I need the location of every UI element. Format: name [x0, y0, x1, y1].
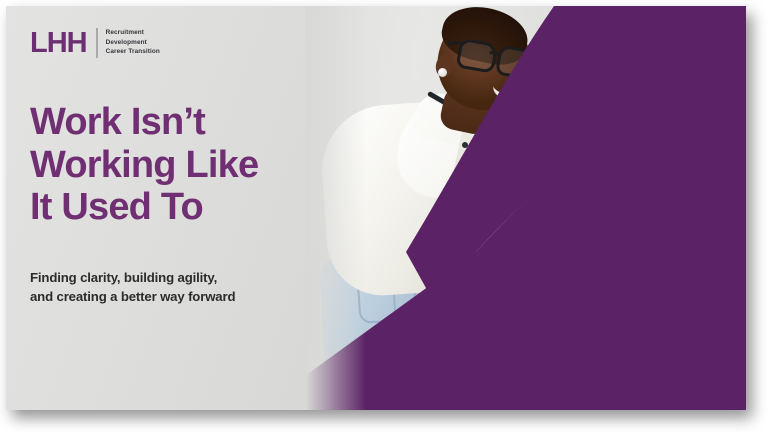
presentation-slide: LHH Recruitment Development Career Trans…: [6, 6, 746, 410]
man-lens-left: [617, 197, 661, 231]
tagline-line-3: Career Transition: [106, 48, 160, 57]
headline-line-2: Working Like: [30, 144, 310, 187]
woman-lens-right: [495, 45, 538, 81]
woman-button: [462, 160, 468, 166]
woman-earring: [438, 68, 447, 77]
headline-line-1: Work Isn’t: [30, 101, 310, 144]
tagline-line-1: Recruitment: [106, 29, 160, 38]
page-title: Work Isn’t Working Like It Used To: [30, 101, 310, 229]
slide-stage: LHH Recruitment Development Career Trans…: [0, 0, 768, 432]
logo-divider: [96, 28, 98, 58]
laptop-base: [652, 400, 746, 410]
woman-button: [462, 142, 468, 148]
page-subtitle: Finding clarity, building agility, and c…: [30, 268, 320, 306]
lhh-logo[interactable]: LHH Recruitment Development Career Trans…: [30, 28, 160, 58]
chair-leg: [476, 376, 489, 410]
woman-lens-left: [456, 38, 499, 74]
headline-line-3: It Used To: [30, 186, 310, 229]
man-lens-right: [665, 192, 709, 226]
tagline-line-2: Development: [106, 39, 160, 48]
chair-backrest-slot: [460, 292, 476, 366]
logo-tagline: Recruitment Development Career Transitio…: [106, 29, 160, 57]
subhead-line-2: and creating a better way forward: [30, 287, 320, 306]
logo-wordmark: LHH: [30, 29, 87, 58]
panel-fade: [306, 6, 366, 410]
subhead-line-1: Finding clarity, building agility,: [30, 268, 320, 287]
